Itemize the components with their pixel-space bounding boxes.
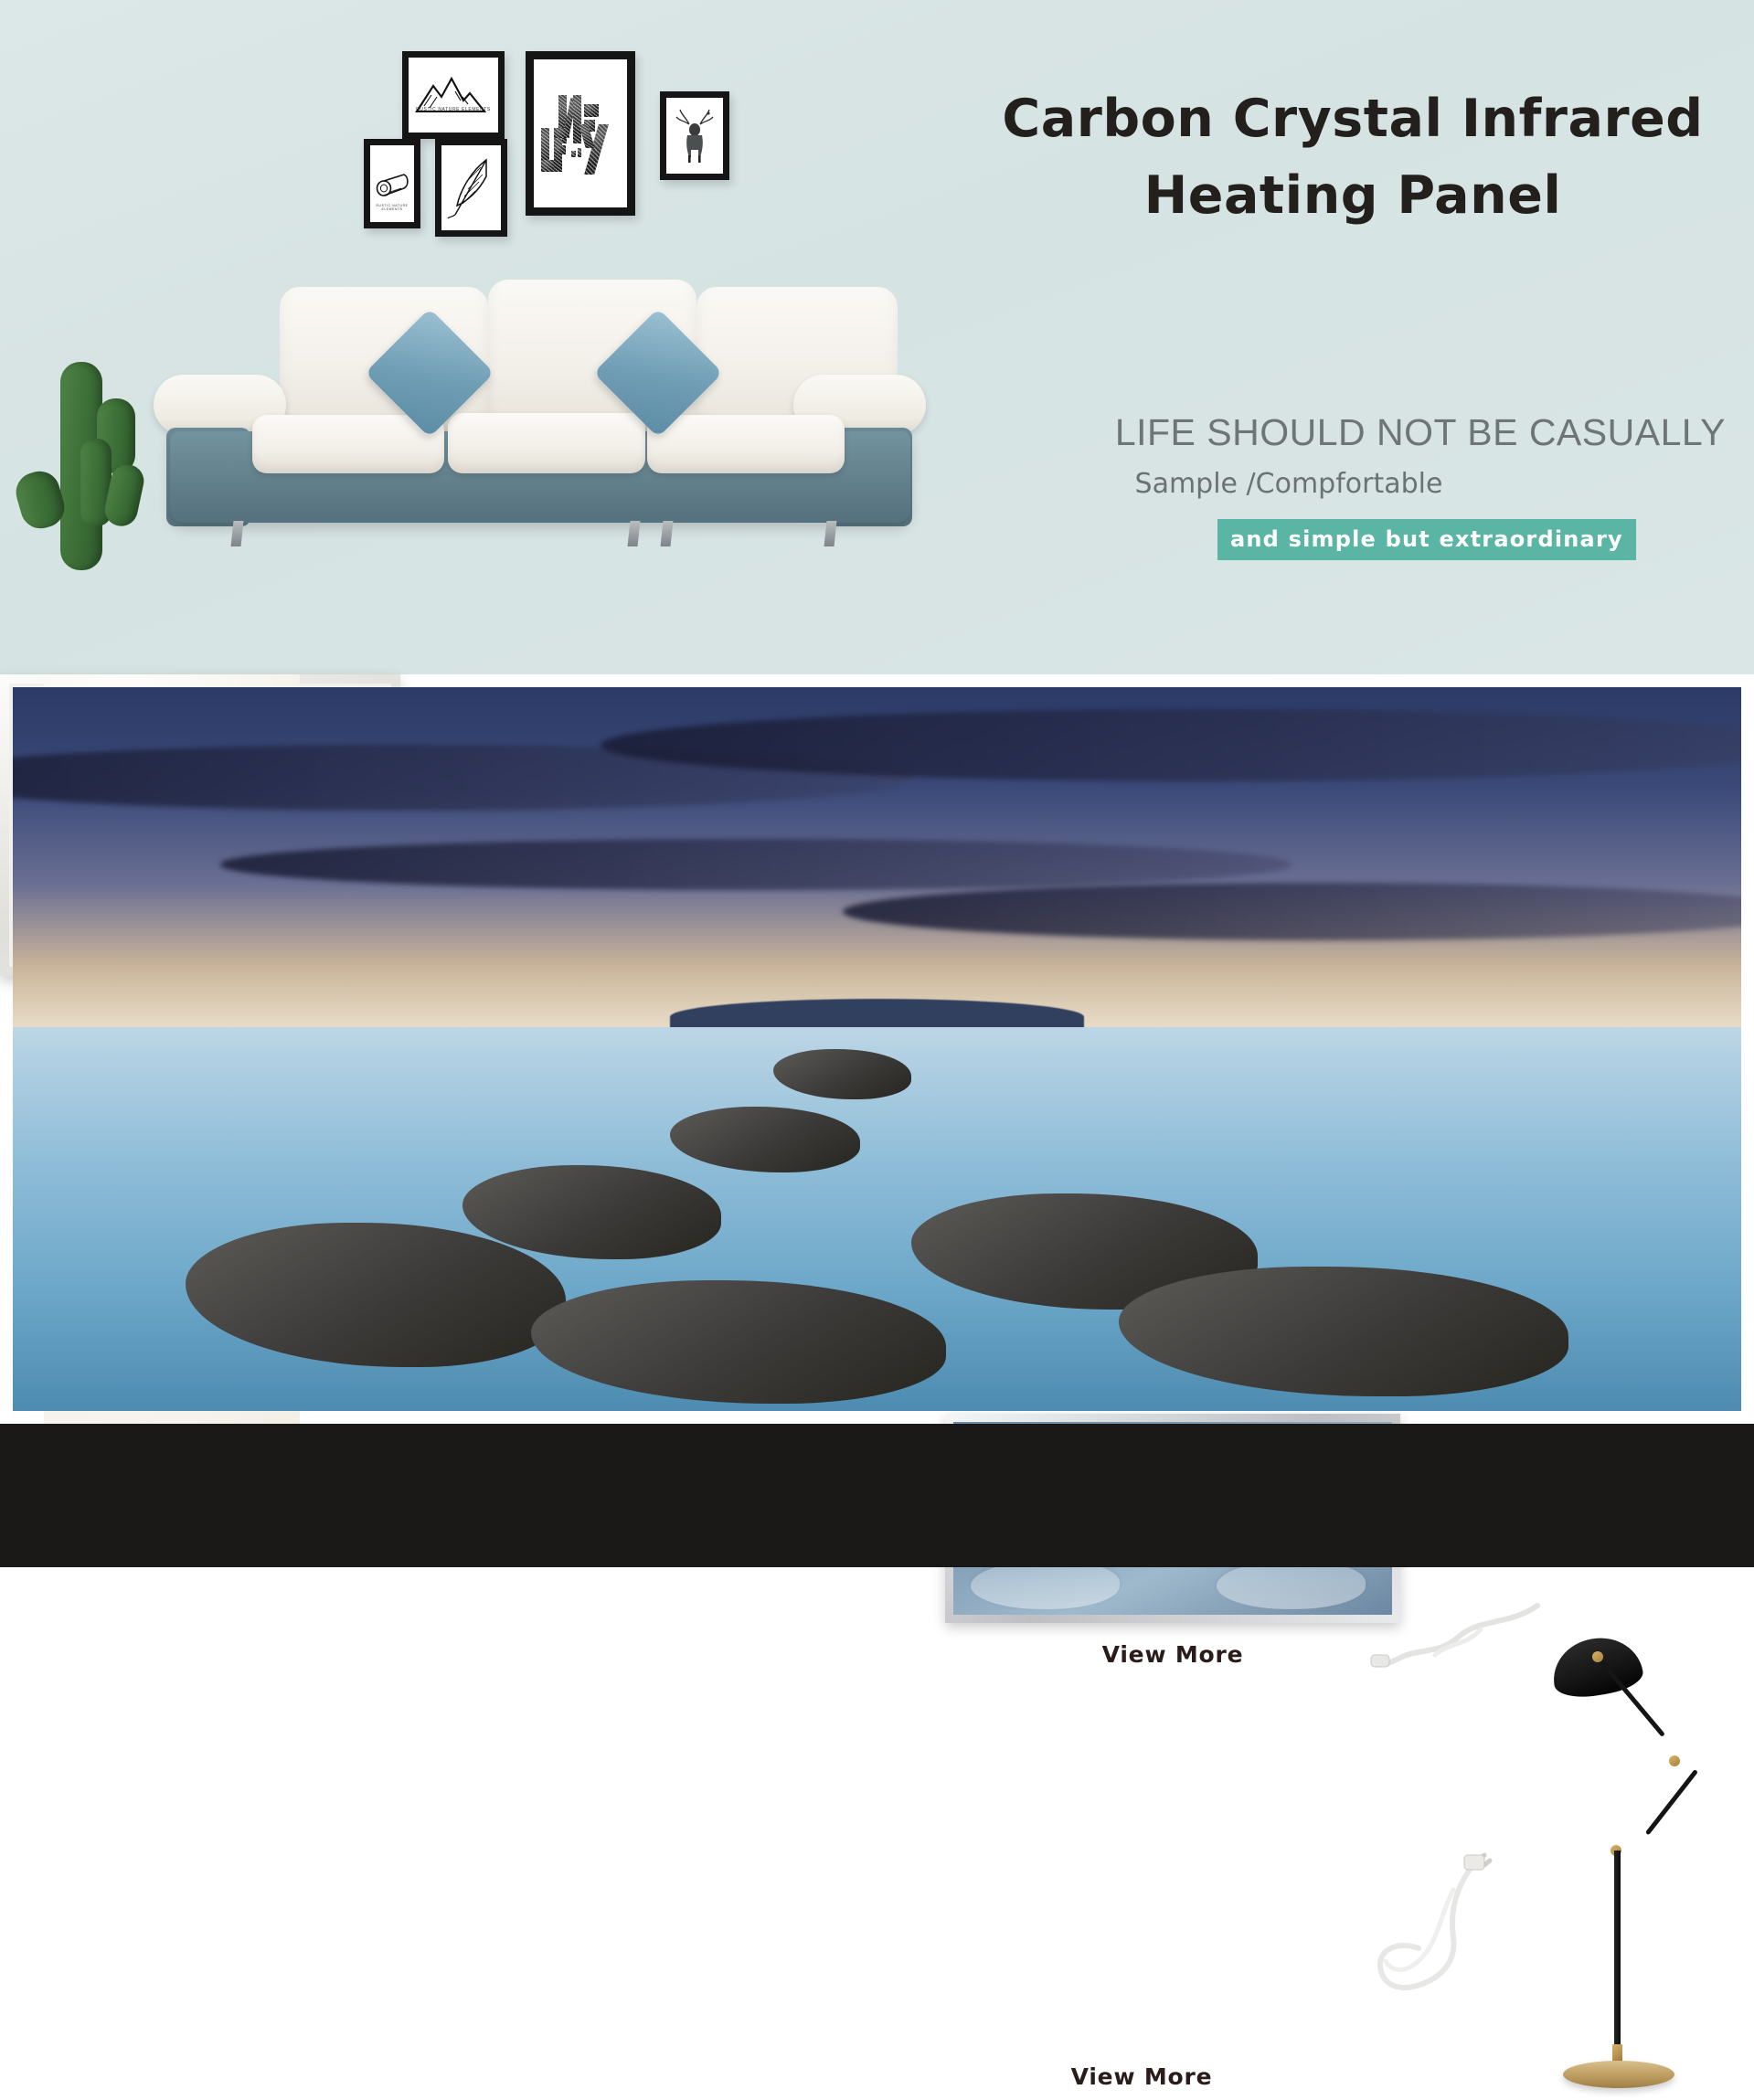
lamp-shade-icon [1548,1632,1645,1702]
product-showcase: View More View More [0,674,1754,1424]
tagline-sub: Sample /Compfortable [914,468,1737,500]
view-more-link-swan-panel[interactable]: View More [945,1641,1400,1668]
tagline-main: LIFE SHOULD NOT BE CASUALLY [914,411,1737,454]
page-title-line-1: Carbon Crystal Infrared [987,80,1718,157]
log-poster-frame: RUSTIC NATURE ELEMENTS [364,139,420,228]
log-poster-caption: RUSTIC NATURE ELEMENTS [370,204,414,211]
hero-banner: RUSTIC NATURE ELEMENTS RUSTIC NATURE ELE… [0,0,1754,674]
mountains-icon [409,58,498,133]
feather-icon [441,145,501,230]
new-york-typography [534,59,627,207]
product-card-swan-panel[interactable]: View More [945,1641,1400,1668]
deer-poster-frame [660,91,729,180]
footer-bar [0,1424,1754,1567]
new-york-poster-frame [526,51,635,216]
mountains-poster-frame: RUSTIC NATURE ELEMENTS [402,51,505,139]
seascape-heating-panel-image[interactable] [0,674,400,976]
tagline-highlight-bar: and simple but extraordinary [1217,519,1636,560]
cactus-plant [16,355,144,570]
view-more-link-seascape-panel[interactable]: View More [941,2063,1342,2090]
page-title-line-2: Heating Panel [987,157,1718,234]
deer-icon [666,98,723,174]
floor-lamp [1545,1639,1754,2100]
sofa [154,267,926,541]
power-cord-seascape [1362,1853,1490,1999]
page-title: Carbon Crystal Infrared Heating Panel [987,80,1718,235]
mountains-poster-caption: RUSTIC NATURE ELEMENTS [409,107,498,112]
product-card-seascape-panel[interactable]: View More [941,2063,1342,2090]
feather-poster-frame [435,139,507,237]
lamp-base [1563,2061,1674,2088]
